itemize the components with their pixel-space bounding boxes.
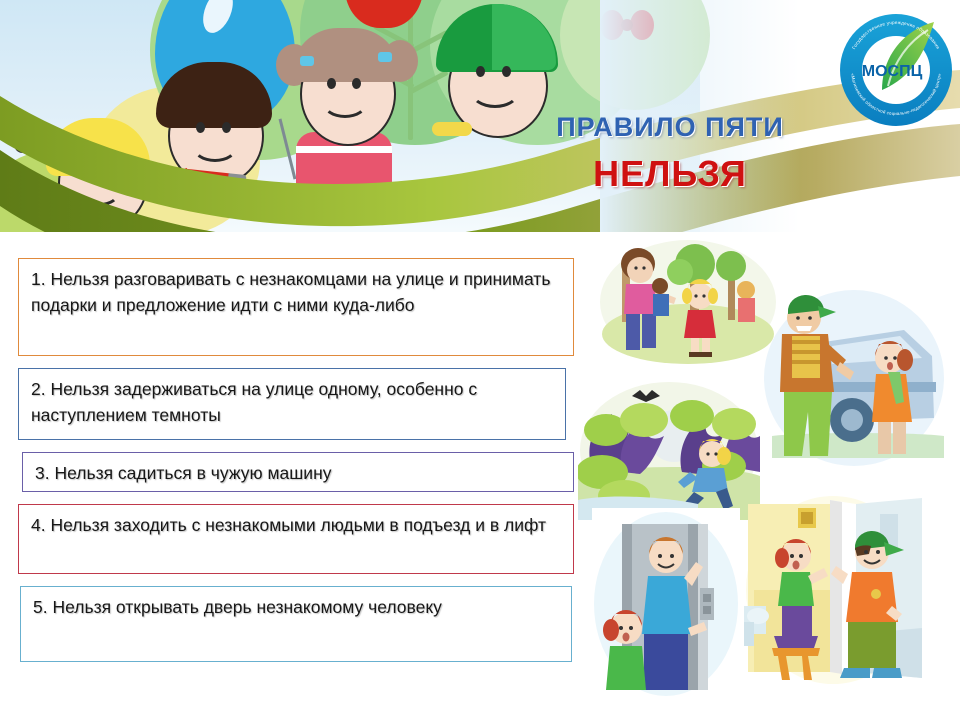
rule-box-3[interactable]: 3. Нельзя садиться в чужую машину <box>22 452 574 492</box>
page-title: ПРАВИЛО ПЯТИ НЕЛЬЗЯ <box>500 112 840 195</box>
organization-logo: Государственное учреждение образования «… <box>838 12 954 128</box>
illustration-stranger-with-car-and-boy <box>762 286 952 474</box>
title-line-1: ПРАВИЛО ПЯТИ <box>500 112 840 143</box>
rule-text-5: 5. Нельзя открывать дверь незнакомому че… <box>33 595 561 621</box>
rule-box-5[interactable]: 5. Нельзя открывать дверь незнакомому че… <box>20 586 572 662</box>
rule-text-4: 4. Нельзя заходить с незнакомыми людьми … <box>31 513 563 539</box>
illustration-child-alone-in-dark-park <box>578 380 760 520</box>
rules-list: 1. Нельзя разговаривать с незнакомцами н… <box>18 258 574 674</box>
slide: ПРАВИЛО ПЯТИ НЕЛЬЗЯ Государственное учре… <box>0 0 960 720</box>
rule-box-4[interactable]: 4. Нельзя заходить с незнакомыми людьми … <box>18 504 574 574</box>
rule-box-1[interactable]: 1. Нельзя разговаривать с незнакомцами н… <box>18 258 574 356</box>
logo-center-text: МОСПЦ <box>862 63 923 80</box>
rule-text-3: 3. Нельзя садиться в чужую машину <box>35 461 563 487</box>
illustration-child-opening-door-to-stranger <box>744 494 922 686</box>
rule-box-2[interactable]: 2. Нельзя задерживаться на улице одному,… <box>18 368 566 440</box>
rule-text-1: 1. Нельзя разговаривать с незнакомцами н… <box>31 267 563 318</box>
title-line-2: НЕЛЬЗЯ <box>500 153 840 195</box>
illustration-man-and-boy-in-elevator <box>592 508 740 698</box>
illustration-stranger-offering-gift-in-park <box>598 238 778 366</box>
rule-text-2: 2. Нельзя задерживаться на улице одному,… <box>31 377 555 428</box>
